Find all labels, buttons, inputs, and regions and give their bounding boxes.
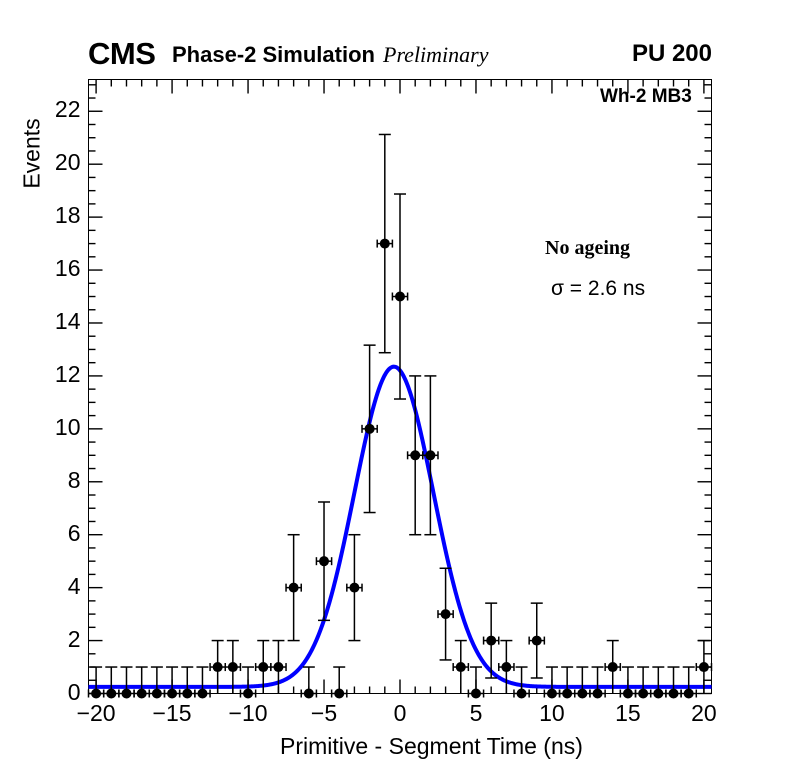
x-tick-label: −5: [294, 700, 354, 727]
x-tick-label: 5: [446, 700, 506, 727]
x-tick-label: 10: [522, 700, 582, 727]
ageing-scenario-label: No ageing: [545, 237, 630, 260]
y-tick-label: 8: [29, 467, 81, 494]
y-axis-title: Events: [19, 94, 46, 214]
x-tick-label: 20: [674, 700, 734, 727]
y-tick-label: 12: [29, 361, 81, 388]
x-tick-label: −10: [218, 700, 278, 727]
y-tick-label: 2: [29, 626, 81, 653]
x-tick-label: −15: [142, 700, 202, 727]
sigma-value-label: σ = 2.6 ns: [551, 277, 645, 301]
y-tick-label: 14: [29, 308, 81, 335]
plot-graphics: [0, 0, 796, 772]
y-tick-label: 10: [29, 414, 81, 441]
gaussian-fit-curve: [89, 367, 712, 687]
x-axis-title: Primitive - Segment Time (ns): [280, 733, 583, 760]
y-tick-label: 6: [29, 520, 81, 547]
chart-canvas: CMS Phase-2 Simulation Preliminary PU 20…: [0, 0, 796, 772]
station-label: Wh-2 MB3: [600, 86, 692, 108]
x-tick-label: 0: [370, 700, 430, 727]
y-tick-label: 16: [29, 255, 81, 282]
x-tick-label: −20: [66, 700, 126, 727]
y-tick-label: 4: [29, 573, 81, 600]
x-tick-label: 15: [598, 700, 658, 727]
data-error-bars: [89, 134, 712, 697]
